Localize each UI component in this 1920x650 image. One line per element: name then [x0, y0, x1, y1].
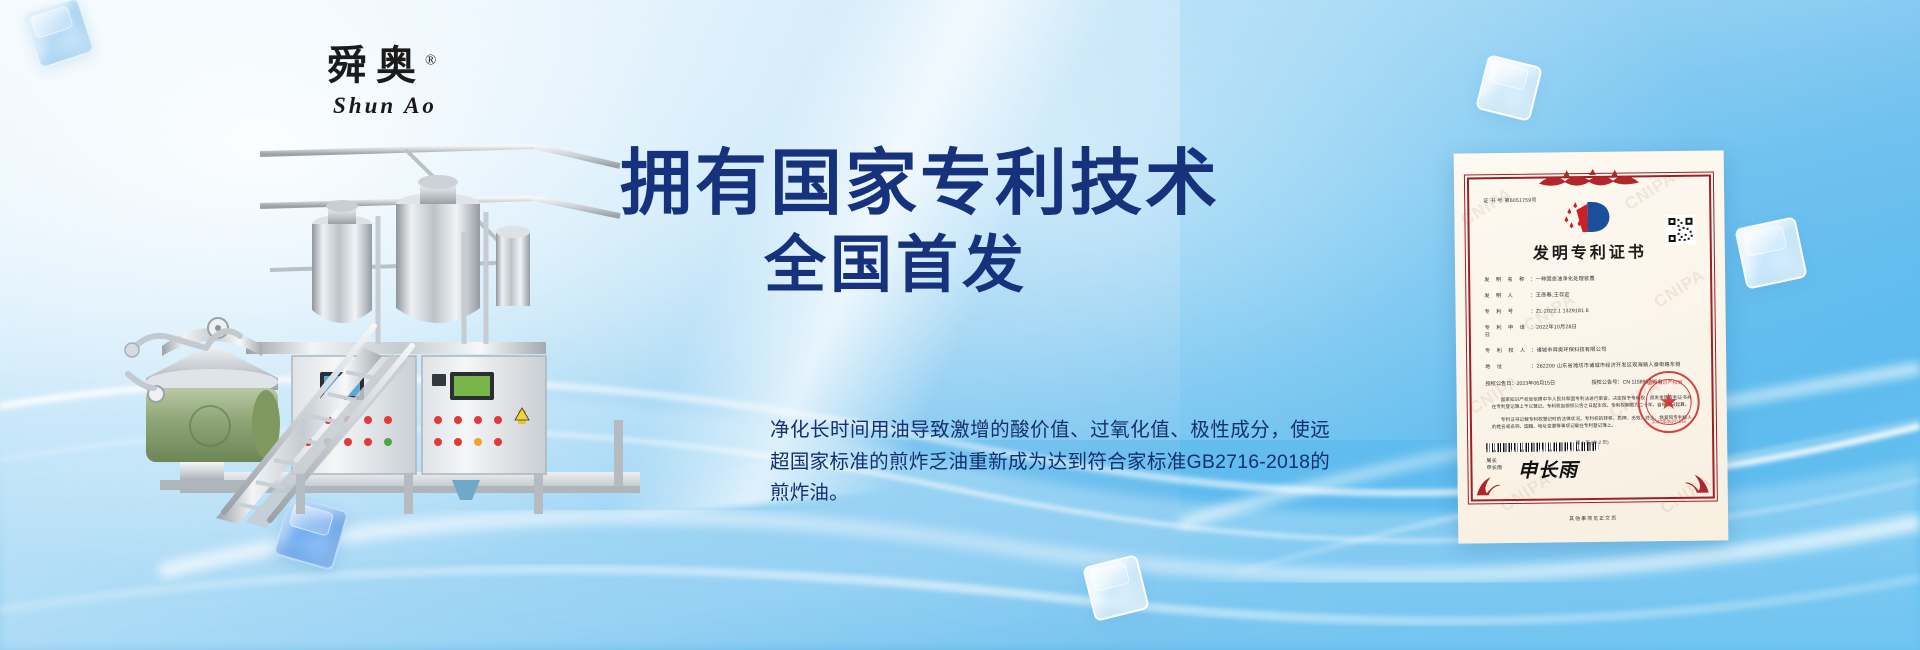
subtitle-text: 净化长时间用油导致激增的酸价值、过氧化值、极性成分，使远超国家标准的煎炸乏油重新…: [770, 415, 1330, 510]
registered-trademark-icon: ®: [425, 53, 436, 69]
brand-logo-english: Shun Ao: [333, 93, 477, 119]
certificate-qr-code: [1665, 215, 1695, 245]
certificate-field-label: 专 利 号: [1485, 309, 1531, 317]
seal-inner-ring: ★ 2023年06月15日: [1645, 379, 1692, 426]
certificate-field-row: 地 址：262200 山东省潍坊市诸城市经济开发区观海路人泰街路东侧: [1485, 362, 1697, 372]
grant-date-value: ：2023年06月15日: [1511, 380, 1555, 388]
certificate-field-value: ：2022年10月28日: [1531, 323, 1697, 339]
certificate-field-value: ：一种固态油净化处理装置: [1530, 275, 1696, 284]
certificate-field-label: 专 利 申 请 日: [1485, 325, 1531, 340]
certificate-fields: 发 明 名 称：一种固态油净化处理装置发 明 人：王彦春;王存宏专 利 号：ZL…: [1484, 275, 1697, 372]
certificate-field-row: 专 利 权 人：诸城市舜奥环保科技有限公司: [1485, 346, 1697, 356]
certificate-field-row: 专 利 号：ZL 2022 1 1329181.6: [1485, 307, 1697, 317]
certificate-ornament-icon: [1529, 168, 1649, 189]
certificate-field-value: ：262200 山东省潍坊市诸城市经济开发区观海路人泰街路东侧: [1531, 362, 1697, 371]
oil-purification-machine-image: [120, 120, 680, 540]
headline-block: 拥有国家专利技术 全国首发: [620, 148, 1320, 299]
national-emblem-icon: ★: [1659, 391, 1679, 413]
certificate-field-row: 发 明 名 称：一种固态油净化处理装置: [1484, 275, 1696, 285]
ice-cube-mid-right: [1734, 216, 1808, 290]
grant-no-label: 授权公告号: [1591, 379, 1617, 386]
certificate-signature: 申长雨: [1518, 455, 1578, 483]
brand-logo-chinese: 舜奥®: [327, 46, 477, 86]
certificate-field-value: ：诸城市舜奥环保科技有限公司: [1531, 346, 1697, 355]
certificate-signature-row: 局长 申长雨 申长雨: [1486, 455, 1698, 483]
brand-logo-chinese-text: 舜奥: [327, 43, 425, 88]
certificate-field-label: 专 利 权 人: [1485, 348, 1531, 356]
certificate-field-label: 发 明 人: [1484, 293, 1530, 301]
certificate-field-value: ：ZL 2022 1 1329181.6: [1531, 307, 1697, 316]
patent-certificate-image: CNIPA CNIPA CNIPA CNIPA CNIPA CNIPA CNIP…: [1454, 150, 1729, 543]
certificate-director-label: 局长 申长雨: [1486, 458, 1502, 474]
certificate-field-label: 地 址: [1485, 364, 1531, 372]
certificate-official-seal: 国家知识产权局 ★ 2023年06月15日: [1637, 371, 1700, 434]
certificate-border: 证 书 号 第6051759号: [1467, 175, 1715, 502]
brand-logo: 舜奥® Shun Ao: [327, 46, 477, 119]
promo-banner: 舜奥® Shun Ao: [0, 0, 1920, 650]
headline-line-2: 全国首发: [764, 233, 1320, 298]
grant-date-label: 授权公告日: [1485, 380, 1511, 387]
seal-date: 2023年06月15日: [1652, 419, 1686, 425]
certificate-title: 发明专利证书: [1484, 238, 1696, 265]
certificate-field-row: 专 利 申 请 日：2022年10月28日: [1485, 323, 1697, 340]
certificate-field-label: 发 明 名 称: [1484, 277, 1530, 285]
certificate-field-value: ：王彦春;王存宏: [1530, 291, 1696, 300]
certificate-footer-note: 其他事项见正文页: [1458, 513, 1728, 523]
certificate-field-row: 发 明 人：王彦春;王存宏: [1484, 291, 1696, 301]
headline-line-1: 拥有国家专利技术: [620, 148, 1320, 221]
